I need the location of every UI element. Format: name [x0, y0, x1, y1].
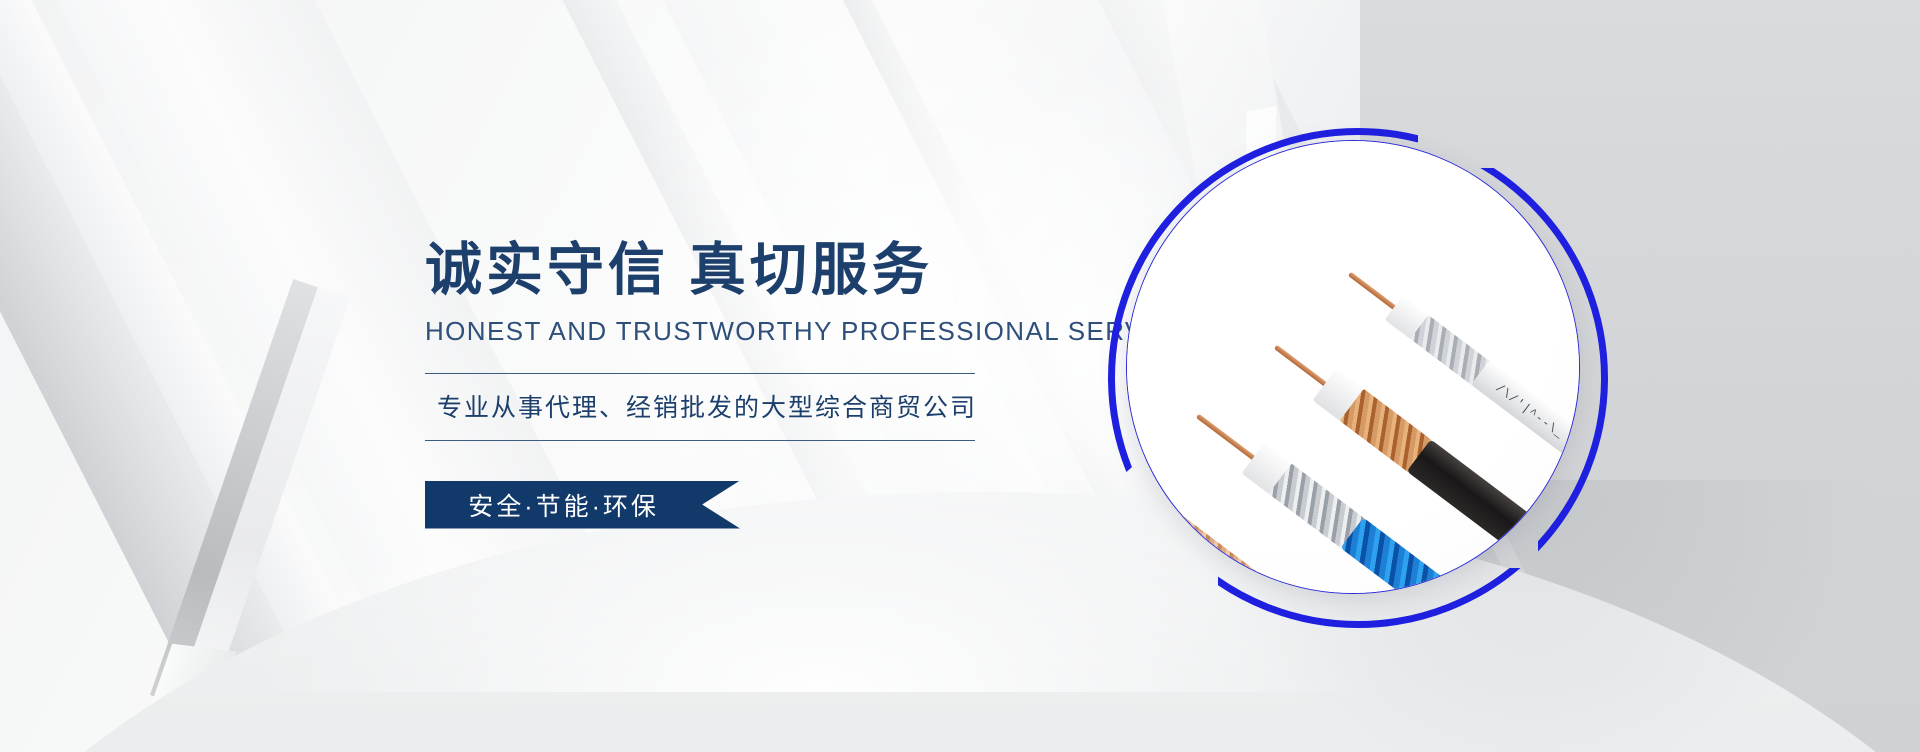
hero-banner: 诚实守信 真切服务 HONEST AND TRUSTWORTHY PROFESS… — [0, 0, 1920, 752]
hero-copy: 诚实守信 真切服务 HONEST AND TRUSTWORTHY PROFESS… — [425, 240, 1045, 529]
feature-badge-label: 安全·节能·环保 — [425, 481, 702, 529]
product-image-zone: /\/'|^--\_ — [1108, 128, 1608, 628]
feature-badge: 安全·节能·环保 — [425, 481, 740, 529]
hero-subtitle: HONEST AND TRUSTWORTHY PROFESSIONAL SERV… — [425, 316, 1045, 347]
hero-description: 专业从事代理、经销批发的大型综合商贸公司 — [425, 374, 1045, 440]
divider-top — [425, 373, 975, 374]
divider-bottom — [425, 440, 975, 441]
page-title: 诚实守信 真切服务 — [425, 240, 1045, 302]
